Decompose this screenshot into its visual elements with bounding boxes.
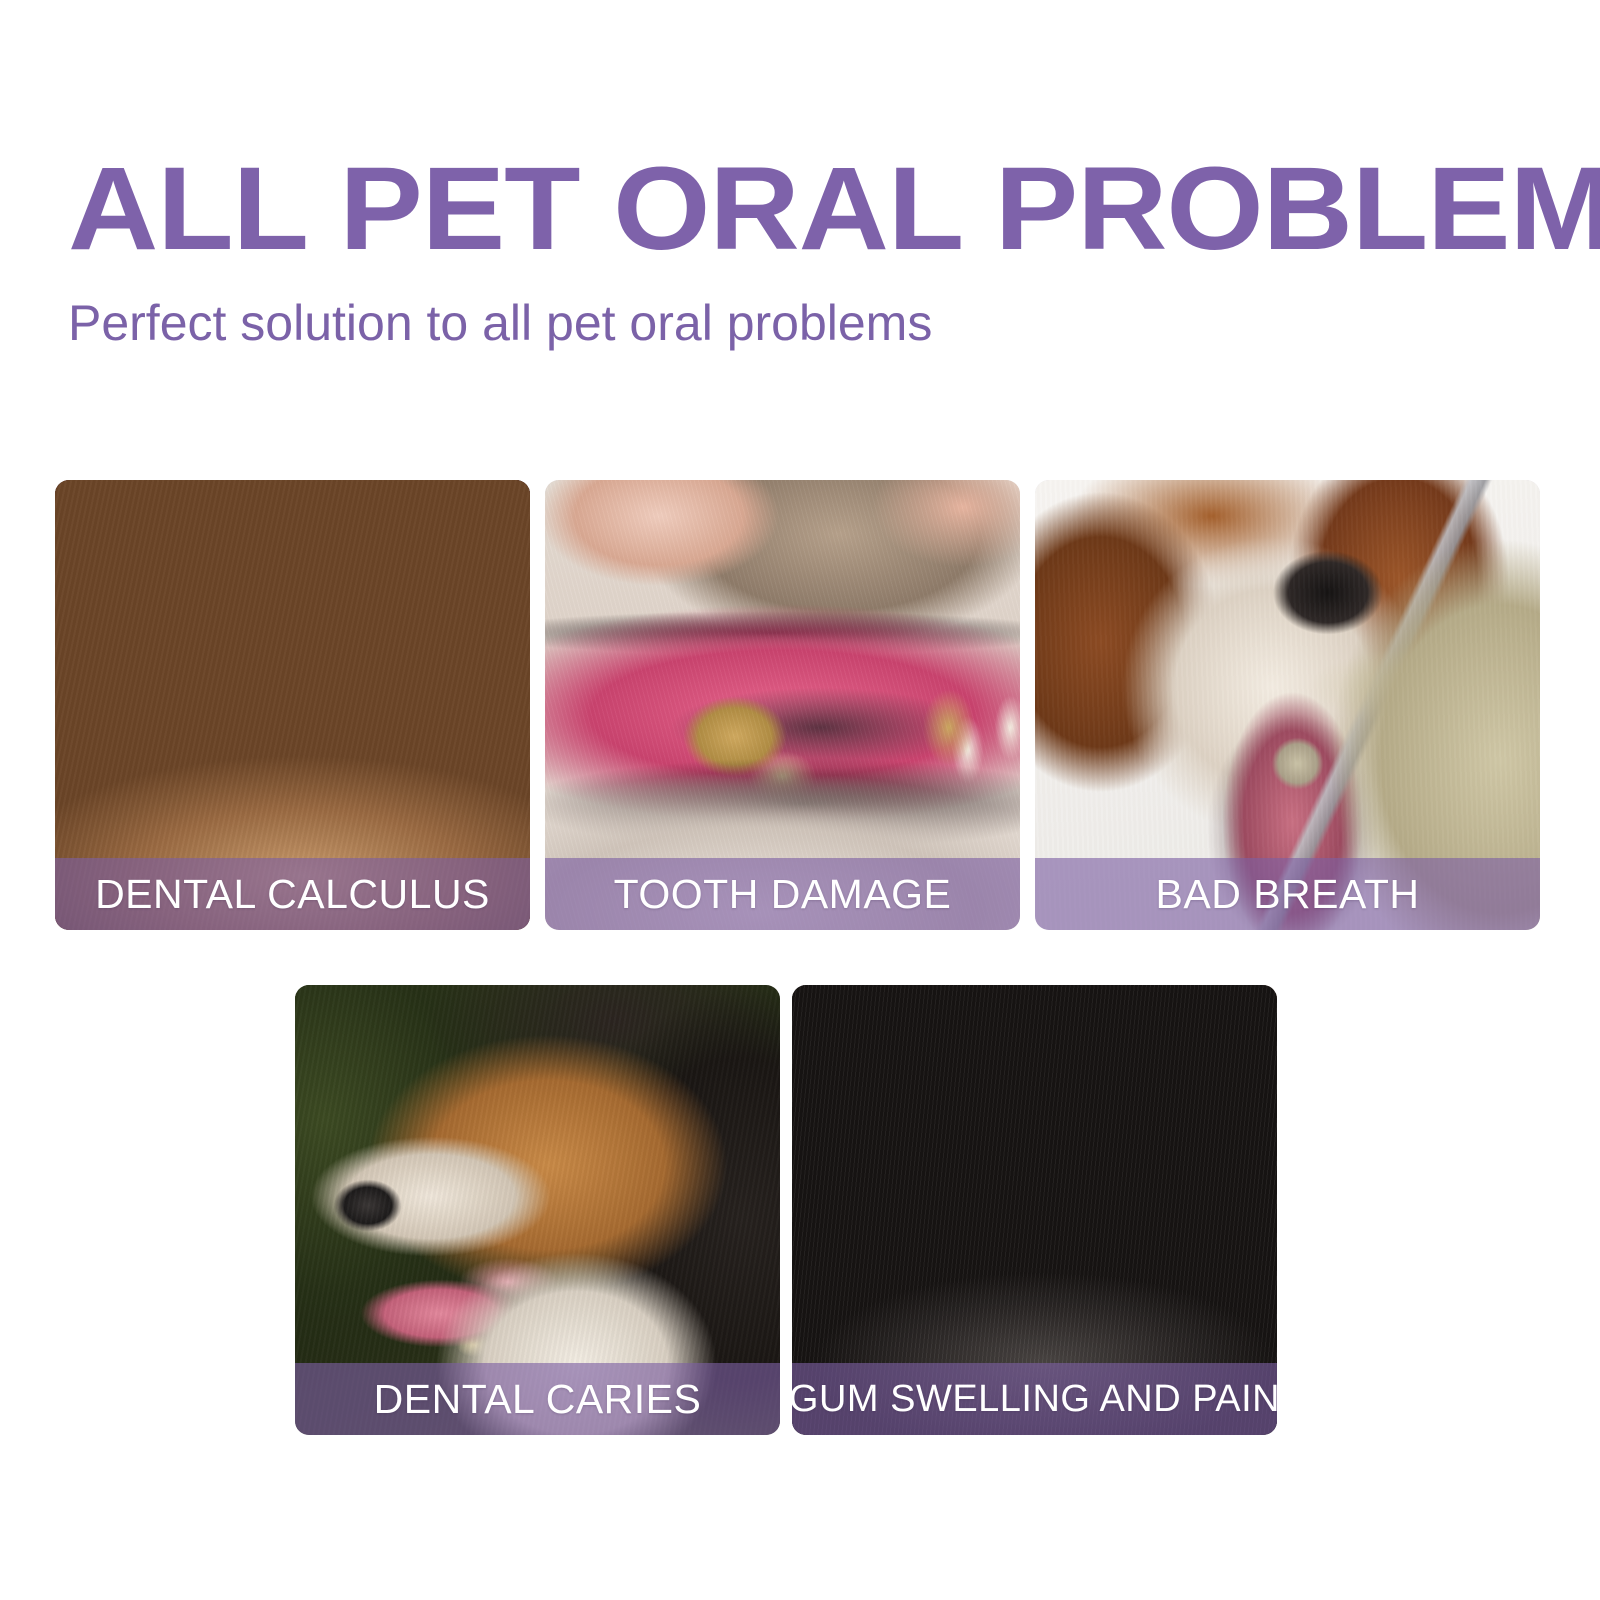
caption-dental-calculus: DENTAL CALCULUS [55, 858, 530, 930]
caption-gum-swelling: GUM SWELLING AND PAIN [792, 1363, 1277, 1435]
page-title: ALL PET ORAL PROBLEMS [68, 150, 1600, 268]
gallery-tile-tooth-damage[interactable]: TOOTH DAMAGE [545, 480, 1020, 930]
page-subtitle: Perfect solution to all pet oral problem… [68, 298, 1528, 348]
gallery-tile-bad-breath[interactable]: BAD BREATH [1035, 480, 1540, 930]
gallery-tile-dental-calculus[interactable]: DENTAL CALCULUS [55, 480, 530, 930]
caption-tooth-damage: TOOTH DAMAGE [545, 858, 1020, 930]
header-block: ALL PET ORAL PROBLEMS Perfect solution t… [68, 150, 1528, 348]
gallery-tile-dental-caries[interactable]: DENTAL CARIES [295, 985, 780, 1435]
gallery-tile-gum-swelling[interactable]: GUM SWELLING AND PAIN [792, 985, 1277, 1435]
caption-bad-breath: BAD BREATH [1035, 858, 1540, 930]
caption-dental-caries: DENTAL CARIES [295, 1363, 780, 1435]
